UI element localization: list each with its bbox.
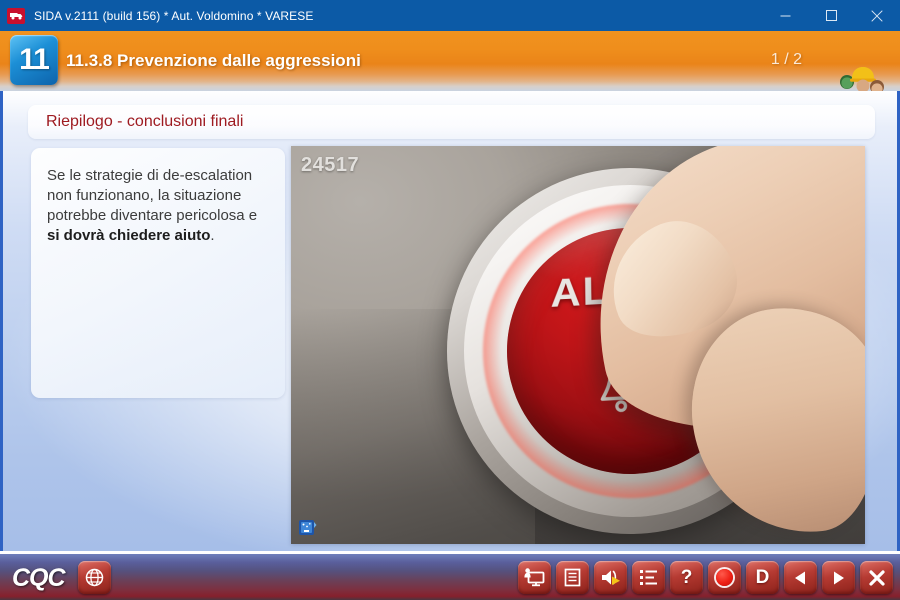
workers-group-icon [832,65,888,91]
close-button[interactable] [854,0,900,31]
chapter-badge: 11 [10,35,58,85]
record-indicator [716,569,733,586]
lesson-body: Riepilogo - conclusioni finali Se le str… [0,91,900,551]
question-mark-icon[interactable]: ? [670,561,703,594]
lesson-text-card: Se le strategie di de-escalation non fun… [31,148,285,398]
list-icon[interactable] [632,561,665,594]
photo-number: 24517 [301,154,359,177]
arrow-left-icon[interactable] [784,561,817,594]
monitor-presentation-icon[interactable] [518,561,551,594]
application-window: SIDA v.2111 (build 156) * Aut. Voldomino… [0,0,900,600]
lesson-image-panel[interactable]: ALARM 24517 [291,146,865,544]
window-title: SIDA v.2111 (build 156) * Aut. Voldomino… [34,9,314,23]
lesson-title: 11.3.8 Prevenzione dalle aggressioni [66,31,361,91]
maximize-button[interactable] [808,0,854,31]
lesson-text-bold: si dovrà chiedere aiuto [47,227,210,244]
help-label: ? [681,568,693,587]
letter-d-icon[interactable]: D [746,561,779,594]
arrow-right-icon[interactable] [822,561,855,594]
dictionary-label: D [756,568,770,587]
section-title: Riepilogo - conclusioni finali [46,105,243,139]
window-controls [762,0,900,31]
page-indicator: 1 / 2 [771,31,802,91]
media-sparkle-icon[interactable] [297,518,319,538]
lesson-text-plain-before: Se le strategie di de-escalation non fun… [47,167,257,224]
truck-icon [7,8,25,24]
lesson-text: Se le strategie di de-escalation non fun… [47,166,269,246]
section-title-panel: Riepilogo - conclusioni finali [28,105,875,139]
close-x-icon[interactable] [860,561,893,594]
record-dot-icon[interactable] [708,561,741,594]
window-titlebar: SIDA v.2111 (build 156) * Aut. Voldomino… [0,0,900,31]
lesson-text-plain-after: . [210,227,214,244]
alarm-button-photo: ALARM 24517 [291,146,865,544]
document-icon[interactable] [556,561,589,594]
lesson-header: 11 11.3.8 Prevenzione dalle aggressioni … [0,31,900,91]
speaker-play-icon[interactable] [594,561,627,594]
minimize-button[interactable] [762,0,808,31]
cqc-brand-logo: CQC [12,564,65,593]
action-toolbar: ? D [518,561,893,594]
bottom-toolbar: CQC [0,551,900,600]
globe-icon[interactable] [78,561,111,594]
